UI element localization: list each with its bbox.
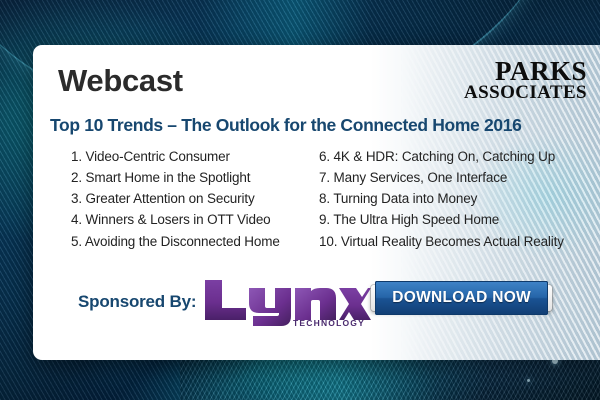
list-item: 8. Turning Data into Money xyxy=(315,188,600,209)
webcast-subtitle: Top 10 Trends – The Outlook for the Conn… xyxy=(50,115,590,136)
logo-line-associates: ASSOCIATES xyxy=(464,84,587,101)
lynx-technology-logo: TECHNOLOGY xyxy=(201,276,371,332)
page-title: Webcast xyxy=(58,65,183,96)
trends-lists: 1. Video-Centric Consumer 2. Smart Home … xyxy=(49,146,592,252)
list-item: 3. Greater Attention on Security xyxy=(49,188,307,209)
list-item: 4. Winners & Losers in OTT Video xyxy=(49,209,307,230)
banner-root: Webcast PARKS ASSOCIATES Top 10 Trends –… xyxy=(0,0,600,400)
list-item: 5. Avoiding the Disconnected Home xyxy=(49,231,307,252)
list-item: 1. Video-Centric Consumer xyxy=(49,146,307,167)
sponsored-by-label: Sponsored By: xyxy=(78,292,196,312)
trends-column-right: 6. 4K & HDR: Catching On, Catching Up 7.… xyxy=(315,146,600,252)
list-item: 10. Virtual Reality Becomes Actual Reali… xyxy=(315,231,600,252)
background-bokeh-dot xyxy=(527,379,530,382)
download-now-button-label: DOWNLOAD NOW xyxy=(375,281,548,315)
list-item: 9. The Ultra High Speed Home xyxy=(315,209,600,230)
logo-line-parks: PARKS xyxy=(464,59,587,84)
list-item: 2. Smart Home in the Spotlight xyxy=(49,167,307,188)
download-now-button[interactable]: DOWNLOAD NOW xyxy=(371,285,552,311)
trends-column-left: 1. Video-Centric Consumer 2. Smart Home … xyxy=(49,146,307,252)
sponsor-row: Sponsored By: xyxy=(33,276,600,332)
lynx-tagline: TECHNOLOGY xyxy=(293,318,365,328)
list-item: 6. 4K & HDR: Catching On, Catching Up xyxy=(315,146,600,167)
parks-associates-logo: PARKS ASSOCIATES xyxy=(464,59,587,101)
download-button-wrapper[interactable]: DOWNLOAD NOW xyxy=(371,285,552,311)
list-item: 7. Many Services, One Interface xyxy=(315,167,600,188)
content-card: Webcast PARKS ASSOCIATES Top 10 Trends –… xyxy=(33,45,600,360)
